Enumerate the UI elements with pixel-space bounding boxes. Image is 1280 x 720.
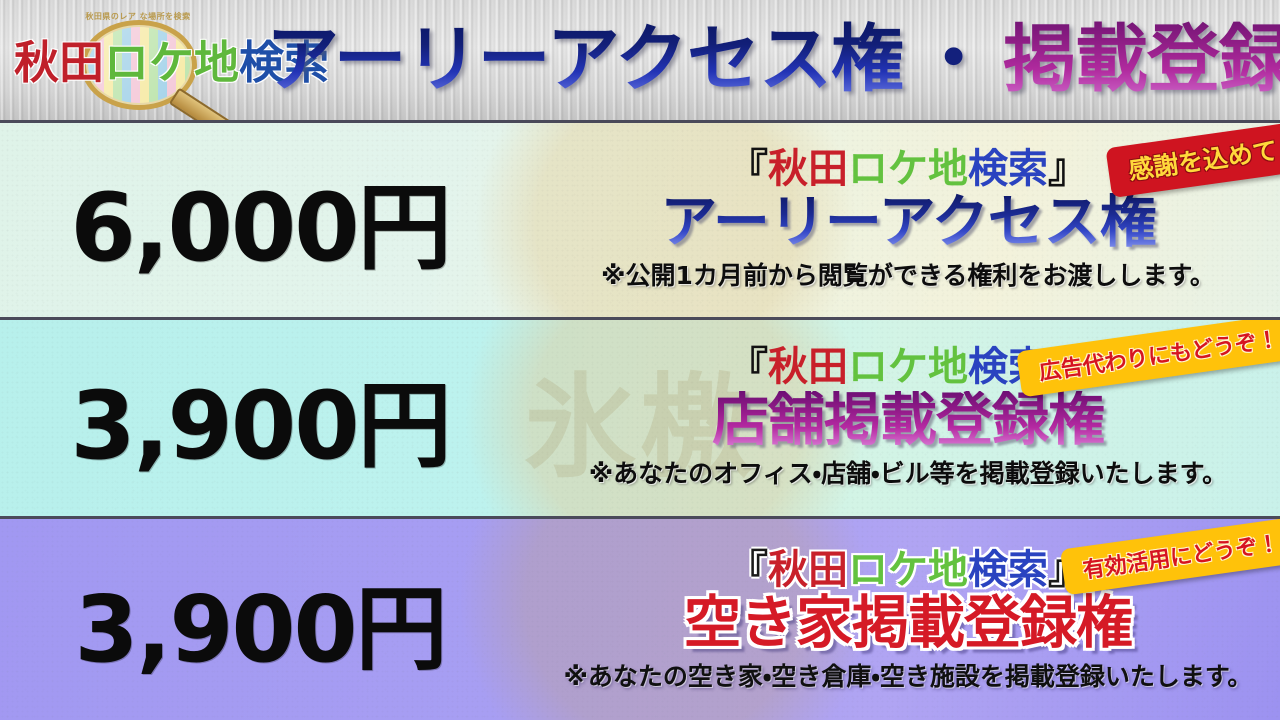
bracket-close: 』: [1048, 145, 1088, 192]
page-title: アーリーアクセス権・掲載登録権: [266, 12, 1280, 108]
brand-kensaku: 検索: [968, 145, 1048, 192]
page-title-separator: ・: [903, 12, 1003, 108]
price-label: 6,000円: [0, 123, 520, 317]
plan-title: アーリーアクセス権: [660, 193, 1155, 253]
plan-title: 空き家掲載登録権: [684, 594, 1132, 654]
brand-rokechi: ロケ地: [848, 145, 968, 192]
brand-rokechi: ロケ地: [848, 343, 968, 390]
bracket-open: 『: [728, 145, 768, 192]
logo-word-rokechi: ロケ地: [104, 36, 239, 89]
brand-akita: 秋田: [768, 546, 848, 593]
brand-akita: 秋田: [768, 145, 848, 192]
brand-rokechi: ロケ地: [848, 546, 968, 593]
brand-kensaku: 検索: [968, 546, 1048, 593]
bracket-open: 『: [728, 343, 768, 390]
poster-canvas: 秋田県のレア な場所を検索 秋田ロケ地検索 アーリーアクセス権・掲載登録権 6,…: [0, 0, 1280, 720]
plan-note: ※あなたの空き家・空き倉庫・空き施設を掲載登録いたします。: [564, 657, 1253, 693]
price-label: 3,900円: [0, 519, 520, 720]
price-label: 3,900円: [0, 320, 520, 516]
plan-row-early-access[interactable]: 6,000円 『秋田ロケ地検索』 アーリーアクセス権 ※公開1カ月前から閲覧がで…: [0, 120, 1280, 320]
brand-line: 『秋田ロケ地検索』: [728, 549, 1088, 591]
plan-title: 店舗掲載登録権: [712, 391, 1104, 451]
magnifier-handle-icon: [169, 88, 243, 120]
brand-line: 『秋田ロケ地検索』: [728, 148, 1088, 190]
site-logo[interactable]: 秋田県のレア な場所を検索 秋田ロケ地検索: [6, 6, 264, 114]
header-bar: 秋田県のレア な場所を検索 秋田ロケ地検索 アーリーアクセス権・掲載登録権: [0, 0, 1280, 120]
plan-row-shop-listing[interactable]: 氷檄 3,900円 『秋田ロケ地検索』 店舗掲載登録権 ※あなたのオフィス・店舗…: [0, 317, 1280, 519]
page-title-part2: 掲載登録権: [1003, 12, 1280, 108]
logo-wordmark: 秋田ロケ地検索: [14, 34, 264, 92]
bracket-open: 『: [728, 546, 768, 593]
plan-note: ※公開1カ月前から閲覧ができる権利をお渡しします。: [601, 256, 1215, 292]
logo-word-akita: 秋田: [14, 36, 104, 89]
plan-row-vacant-house-listing[interactable]: 3,900円 『秋田ロケ地検索』 空き家掲載登録権 ※あなたの空き家・空き倉庫・…: [0, 516, 1280, 720]
brand-akita: 秋田: [768, 343, 848, 390]
page-title-part1: アーリーアクセス権: [266, 12, 903, 108]
plan-note: ※あなたのオフィス・店舗・ビル等を掲載登録いたします。: [589, 454, 1227, 490]
